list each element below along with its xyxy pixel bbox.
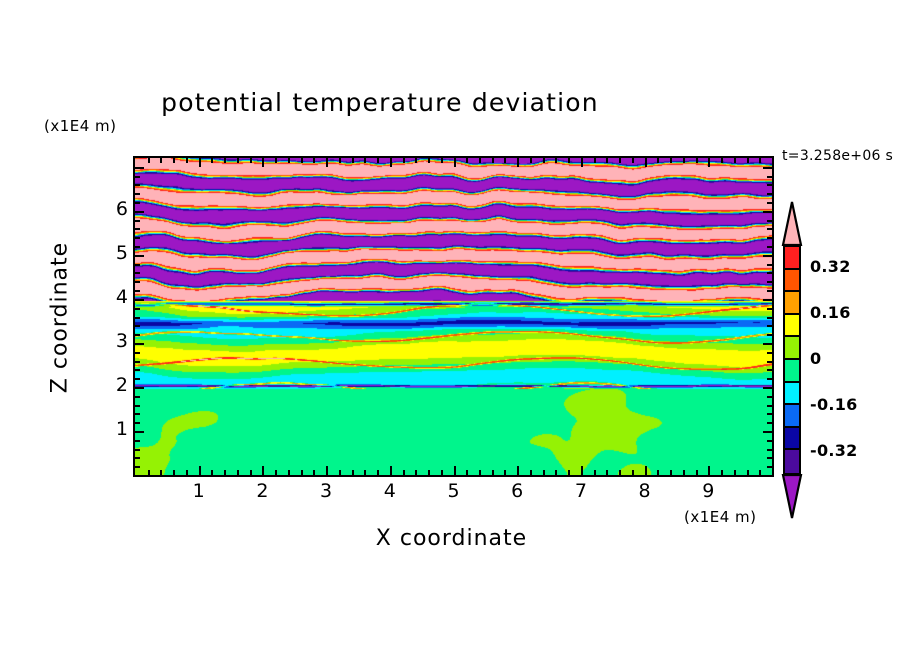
y-minor-tick [135,290,140,292]
colorbar-tick-label: -0.32 [810,441,858,460]
y-minor-tick [135,396,140,398]
y-minor-tick [135,184,140,186]
y-minor-tick [135,405,140,407]
y-major-tick [135,167,144,169]
x-minor-tick [466,470,468,475]
y-minor-tick [767,378,772,380]
y-minor-tick [767,272,772,274]
x-minor-tick [186,158,188,163]
y-major-tick [763,431,772,433]
x-minor-tick [543,158,545,163]
x-minor-tick [759,470,761,475]
y-tick-label: 1 [88,418,128,440]
x-axis-title: X coordinate [133,526,770,551]
x-minor-tick [364,470,366,475]
x-tick-label: 8 [625,480,665,502]
x-minor-tick [403,470,405,475]
y-major-tick [135,343,144,345]
x-minor-tick [288,470,290,475]
z-axis-unit-label: (x1E4 m) [44,117,117,135]
y-minor-tick [135,176,140,178]
colorbar-band [785,270,799,293]
x-minor-tick [504,158,506,163]
x-minor-tick [594,158,596,163]
x-major-tick [581,158,583,167]
x-major-tick [454,158,456,167]
x-tick-label: 5 [434,480,474,502]
y-minor-tick [135,220,140,222]
colorbar [779,200,805,520]
x-major-tick [390,466,392,475]
z-axis-title: Z coordinate [48,198,73,438]
x-minor-tick [504,470,506,475]
colorbar-tick-label: 0.32 [810,257,851,276]
x-minor-tick [530,470,532,475]
x-minor-tick [555,158,557,163]
y-tick-label: 5 [88,242,128,264]
x-minor-tick [530,158,532,163]
x-minor-tick [466,158,468,163]
y-minor-tick [767,317,772,319]
x-minor-tick [747,470,749,475]
y-major-tick [763,255,772,257]
x-major-tick [708,466,710,475]
x-minor-tick [415,158,417,163]
y-minor-tick [135,466,140,468]
y-minor-tick [767,325,772,327]
x-tick-label: 3 [306,480,346,502]
colorbar-under-cap [779,474,805,520]
y-minor-tick [135,457,140,459]
x-minor-tick [339,470,341,475]
colorbar-band [785,360,799,383]
time-annotation: t=3.258e+06 s [782,148,893,164]
y-major-tick [135,431,144,433]
x-minor-tick [211,470,213,475]
x-minor-tick [224,158,226,163]
colorbar-band [785,450,799,473]
colorbar-band [785,428,799,451]
x-minor-tick [696,470,698,475]
x-minor-tick [173,470,175,475]
x-minor-tick [211,158,213,163]
y-minor-tick [135,281,140,283]
y-tick-label: 4 [88,286,128,308]
x-minor-tick [619,470,621,475]
x-minor-tick [428,470,430,475]
x-major-tick [517,466,519,475]
x-minor-tick [683,470,685,475]
y-minor-tick [767,369,772,371]
y-major-tick [763,343,772,345]
x-tick-label: 2 [242,480,282,502]
x-major-tick [454,466,456,475]
y-major-tick [763,387,772,389]
colorbar-tick-label: 0.16 [810,303,851,322]
y-minor-tick [135,422,140,424]
x-minor-tick [173,158,175,163]
y-minor-tick [135,308,140,310]
y-major-tick [135,211,144,213]
y-minor-tick [767,220,772,222]
x-minor-tick [148,470,150,475]
y-minor-tick [767,396,772,398]
y-minor-tick [767,352,772,354]
x-minor-tick [721,158,723,163]
x-minor-tick [670,470,672,475]
y-minor-tick [135,325,140,327]
x-minor-tick [441,470,443,475]
x-minor-tick [313,470,315,475]
x-tick-label: 6 [497,480,537,502]
contour-plot-area [133,156,774,477]
y-major-tick [135,299,144,301]
x-minor-tick [492,158,494,163]
x-minor-tick [364,158,366,163]
x-minor-tick [721,470,723,475]
y-minor-tick [767,202,772,204]
y-minor-tick [767,228,772,230]
y-minor-tick [767,334,772,336]
y-minor-tick [135,440,140,442]
x-major-tick [645,158,647,167]
y-minor-tick [135,369,140,371]
x-minor-tick [594,470,596,475]
x-minor-tick [250,158,252,163]
y-minor-tick [767,466,772,468]
x-minor-tick [160,158,162,163]
x-major-tick [581,466,583,475]
x-major-tick [262,158,264,167]
x-major-tick [262,466,264,475]
y-minor-tick [767,237,772,239]
y-minor-tick [767,361,772,363]
y-major-tick [763,211,772,213]
colorbar-tick-label: -0.16 [810,395,858,414]
x-minor-tick [568,470,570,475]
y-minor-tick [767,457,772,459]
page-title: potential temperature deviation [0,88,760,117]
y-minor-tick [135,246,140,248]
x-minor-tick [632,470,634,475]
y-minor-tick [135,193,140,195]
y-minor-tick [135,272,140,274]
x-minor-tick [606,470,608,475]
x-minor-tick [339,158,341,163]
x-minor-tick [377,470,379,475]
y-minor-tick [135,413,140,415]
x-major-tick [390,158,392,167]
x-minor-tick [479,158,481,163]
x-minor-tick [352,158,354,163]
x-minor-tick [683,158,685,163]
y-tick-label: 3 [88,330,128,352]
x-minor-tick [148,158,150,163]
x-major-tick [708,158,710,167]
x-minor-tick [288,158,290,163]
y-minor-tick [767,413,772,415]
x-minor-tick [301,470,303,475]
colorbar-band [785,383,799,406]
x-minor-tick [543,470,545,475]
x-axis-unit-label: (x1E4 m) [684,508,757,526]
colorbar-band [785,247,799,270]
y-major-tick [135,387,144,389]
x-minor-tick [275,158,277,163]
x-minor-tick [619,158,621,163]
y-minor-tick [767,405,772,407]
x-minor-tick [555,470,557,475]
y-minor-tick [135,264,140,266]
x-minor-tick [428,158,430,163]
x-minor-tick [415,470,417,475]
x-minor-tick [734,470,736,475]
colorbar-over-cap [779,200,805,245]
x-minor-tick [403,158,405,163]
x-minor-tick [352,470,354,475]
x-minor-tick [237,470,239,475]
x-minor-tick [696,158,698,163]
x-minor-tick [479,470,481,475]
x-minor-tick [313,158,315,163]
y-minor-tick [135,352,140,354]
y-minor-tick [767,176,772,178]
x-tick-label: 1 [179,480,219,502]
x-minor-tick [759,158,761,163]
x-major-tick [517,158,519,167]
colorbar-tick-label: 0 [810,349,821,368]
x-minor-tick [492,470,494,475]
x-minor-tick [275,470,277,475]
y-minor-tick [767,193,772,195]
x-minor-tick [237,158,239,163]
x-minor-tick [160,470,162,475]
x-minor-tick [568,158,570,163]
x-major-tick [326,466,328,475]
y-minor-tick [767,290,772,292]
x-minor-tick [657,470,659,475]
colorbar-band [785,315,799,338]
y-minor-tick [135,334,140,336]
y-minor-tick [135,449,140,451]
y-minor-tick [135,228,140,230]
x-minor-tick [186,470,188,475]
y-tick-label: 2 [88,374,128,396]
colorbar-band [785,337,799,360]
y-major-tick [135,255,144,257]
y-minor-tick [767,449,772,451]
x-major-tick [326,158,328,167]
y-minor-tick [767,308,772,310]
x-minor-tick [606,158,608,163]
y-minor-tick [767,440,772,442]
y-tick-label: 6 [88,198,128,220]
x-major-tick [645,466,647,475]
y-minor-tick [135,361,140,363]
y-major-tick [763,167,772,169]
x-tick-label: 9 [688,480,728,502]
colorbar-band [785,292,799,315]
y-minor-tick [135,378,140,380]
x-major-tick [199,158,201,167]
x-major-tick [199,466,201,475]
temperature-deviation-field [135,158,772,475]
colorbar-band [785,405,799,428]
x-minor-tick [670,158,672,163]
x-minor-tick [632,158,634,163]
x-minor-tick [747,158,749,163]
x-tick-label: 4 [370,480,410,502]
y-major-tick [763,299,772,301]
y-minor-tick [135,317,140,319]
y-minor-tick [767,264,772,266]
colorbar-bands [783,245,801,475]
y-minor-tick [767,246,772,248]
x-minor-tick [734,158,736,163]
x-minor-tick [657,158,659,163]
y-minor-tick [767,422,772,424]
y-minor-tick [135,202,140,204]
y-minor-tick [767,281,772,283]
y-minor-tick [135,237,140,239]
y-minor-tick [767,184,772,186]
x-minor-tick [441,158,443,163]
x-minor-tick [301,158,303,163]
x-tick-label: 7 [561,480,601,502]
x-minor-tick [224,470,226,475]
x-minor-tick [250,470,252,475]
x-minor-tick [377,158,379,163]
